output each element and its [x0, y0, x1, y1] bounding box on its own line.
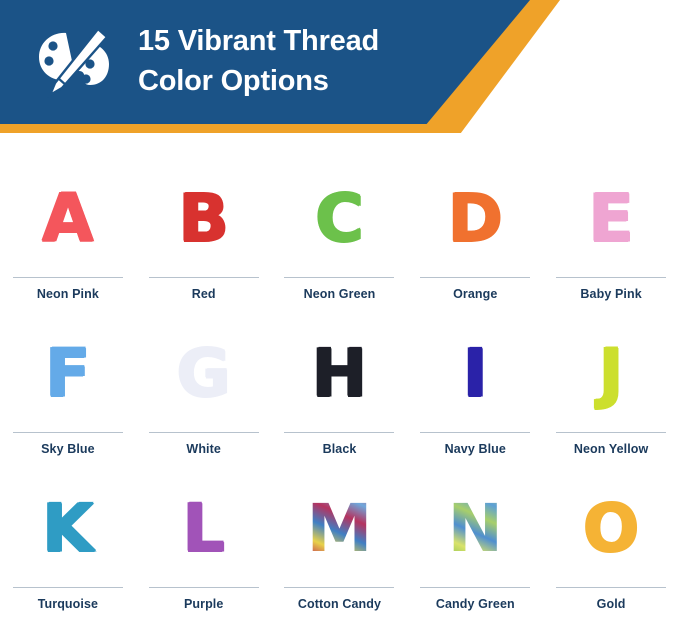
swatch-letter-box: O: [543, 470, 679, 587]
thread-swatch[interactable]: DOrange: [407, 160, 543, 315]
swatch-divider: [284, 277, 394, 278]
swatch-letter: C: [315, 186, 363, 252]
swatch-letter: L: [183, 496, 225, 562]
thread-swatch[interactable]: OGold: [543, 470, 679, 625]
thread-swatch[interactable]: MCotton Candy: [272, 470, 408, 625]
swatch-divider: [149, 587, 259, 588]
swatch-divider: [284, 432, 394, 433]
swatch-letter-box: A: [0, 160, 136, 277]
swatch-divider: [13, 432, 123, 433]
swatch-divider: [284, 587, 394, 588]
swatch-divider: [149, 277, 259, 278]
swatch-letter-box: E: [543, 160, 679, 277]
thread-swatch[interactable]: EBaby Pink: [543, 160, 679, 315]
thread-swatch[interactable]: NCandy Green: [407, 470, 543, 625]
swatch-letter: H: [312, 341, 367, 407]
swatch-label: Navy Blue: [445, 442, 506, 456]
swatch-letter: E: [589, 186, 634, 252]
swatch-divider: [149, 432, 259, 433]
swatch-letter-box: C: [272, 160, 408, 277]
thread-swatch[interactable]: KTurquoise: [0, 470, 136, 625]
swatch-divider: [556, 587, 666, 588]
swatch-letter: B: [179, 186, 229, 252]
swatch-label: Neon Green: [304, 287, 376, 301]
swatch-label: Neon Pink: [37, 287, 99, 301]
swatch-label: Gold: [597, 597, 626, 611]
swatch-divider: [420, 432, 530, 433]
thread-swatch[interactable]: HBlack: [272, 315, 408, 470]
swatch-letter-box: F: [0, 315, 136, 432]
header-banner: 15 Vibrant Thread Color Options: [0, 0, 679, 140]
swatch-letter: I: [463, 341, 488, 407]
swatch-label: Purple: [184, 597, 224, 611]
swatch-label: Orange: [453, 287, 497, 301]
swatch-letter: O: [583, 496, 639, 562]
thread-swatch[interactable]: GWhite: [136, 315, 272, 470]
swatch-divider: [556, 277, 666, 278]
swatch-letter: D: [448, 186, 503, 252]
swatch-label: White: [186, 442, 221, 456]
swatch-letter-box: L: [136, 470, 272, 587]
swatch-divider: [420, 587, 530, 588]
swatch-letter: N: [448, 496, 503, 562]
thread-color-grid: ANeon PinkBRedCNeon GreenDOrangeEBaby Pi…: [0, 160, 679, 625]
swatch-label: Red: [192, 287, 216, 301]
swatch-divider: [13, 277, 123, 278]
swatch-letter: J: [599, 341, 624, 407]
swatch-letter-box: I: [407, 315, 543, 432]
swatch-letter-box: H: [272, 315, 408, 432]
thread-swatch[interactable]: JNeon Yellow: [543, 315, 679, 470]
swatch-letter: M: [307, 496, 373, 562]
swatch-letter: A: [42, 186, 93, 252]
page-title-line-1: 15 Vibrant Thread: [138, 21, 508, 61]
swatch-letter-box: K: [0, 470, 136, 587]
page-title-line-2: Color Options: [138, 61, 508, 101]
swatch-label: Cotton Candy: [298, 597, 381, 611]
swatch-label: Black: [323, 442, 357, 456]
thread-swatch[interactable]: BRed: [136, 160, 272, 315]
swatch-divider: [556, 432, 666, 433]
swatch-letter-box: M: [272, 470, 408, 587]
swatch-letter-box: G: [136, 315, 272, 432]
swatch-label: Neon Yellow: [574, 442, 649, 456]
paint-palette-icon: [36, 28, 114, 100]
swatch-letter-box: D: [407, 160, 543, 277]
thread-swatch[interactable]: ANeon Pink: [0, 160, 136, 315]
thread-swatch[interactable]: LPurple: [136, 470, 272, 625]
page-title: 15 Vibrant Thread Color Options: [138, 21, 508, 101]
thread-swatch[interactable]: FSky Blue: [0, 315, 136, 470]
swatch-letter: G: [177, 341, 231, 407]
swatch-label: Candy Green: [436, 597, 515, 611]
swatch-label: Sky Blue: [41, 442, 95, 456]
thread-swatch[interactable]: INavy Blue: [407, 315, 543, 470]
thread-swatch[interactable]: CNeon Green: [272, 160, 408, 315]
swatch-divider: [420, 277, 530, 278]
swatch-letter-box: J: [543, 315, 679, 432]
swatch-label: Baby Pink: [580, 287, 641, 301]
swatch-letter-box: N: [407, 470, 543, 587]
swatch-label: Turquoise: [38, 597, 98, 611]
swatch-letter-box: B: [136, 160, 272, 277]
swatch-letter: K: [42, 496, 93, 562]
swatch-letter: F: [45, 341, 90, 407]
swatch-divider: [13, 587, 123, 588]
